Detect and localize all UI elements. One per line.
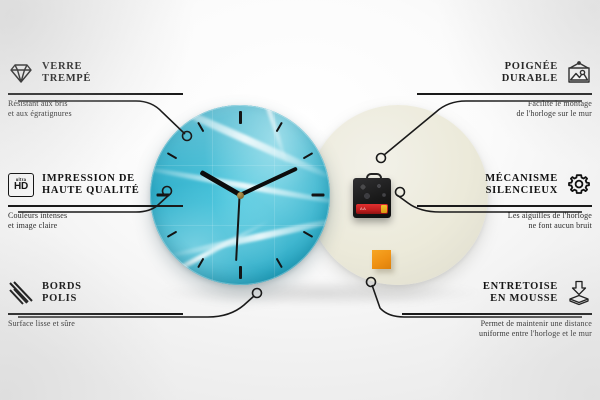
callout-header: POIGNÉEDURABLE xyxy=(417,56,592,90)
foam-spacer-icon xyxy=(566,280,592,306)
callout-rule xyxy=(417,205,592,207)
callout-title: ENTRETOISEEN MOUSSE xyxy=(402,281,558,306)
callout-description: Facilite le montage de l'horloge sur le … xyxy=(417,99,592,119)
hanging-frame-icon xyxy=(566,60,592,86)
connector-ring-entretoise xyxy=(367,278,376,287)
callout-header: ultra HD IMPRESSION DEHAUTE QUALITÉ xyxy=(8,168,183,202)
ultra-hd-icon-main-text: HD xyxy=(14,182,28,192)
connector-ring-bords-polis xyxy=(253,289,262,298)
callout-description: Résistant aux bris et aux égratignures xyxy=(8,99,183,119)
callout-mecanisme-silencieux[interactable]: MÉCANISMESILENCIEUX Les aiguilles de l'h… xyxy=(417,168,592,231)
callout-entretoise-en-mousse[interactable]: ENTRETOISEEN MOUSSE Permet de maintenir … xyxy=(402,276,592,339)
callout-description: Permet de maintenir une distance uniform… xyxy=(402,319,592,339)
callout-header: ENTRETOISEEN MOUSSE xyxy=(402,276,592,310)
callout-title: VERRETREMPÉ xyxy=(42,61,183,86)
callout-description: Couleurs intenses et image claire xyxy=(8,211,183,231)
callout-title: IMPRESSION DEHAUTE QUALITÉ xyxy=(42,173,183,198)
callout-title: POIGNÉEDURABLE xyxy=(417,61,558,86)
callout-rule xyxy=(8,205,183,207)
callout-rule xyxy=(8,313,183,315)
callout-poignee-durable[interactable]: POIGNÉEDURABLE Facilite le montage de l'… xyxy=(417,56,592,119)
callout-description: Surface lisse et sûre xyxy=(8,319,183,329)
callout-rule xyxy=(8,93,183,95)
callout-title: BORDSPOLIS xyxy=(42,281,183,306)
callout-rule xyxy=(417,93,592,95)
polished-edges-icon xyxy=(8,280,34,306)
callout-impression-haute-qualite[interactable]: ultra HD IMPRESSION DEHAUTE QUALITÉ Coul… xyxy=(8,168,183,231)
callout-header: VERRETREMPÉ xyxy=(8,56,183,90)
callout-verre-trempe[interactable]: VERRETREMPÉ Résistant aux bris et aux ég… xyxy=(8,56,183,119)
callout-header: MÉCANISMESILENCIEUX xyxy=(417,168,592,202)
connector-ring-mecanisme xyxy=(396,188,405,197)
connector-ring-verre-trempe xyxy=(183,132,192,141)
callout-bords-polis[interactable]: BORDSPOLIS Surface lisse et sûre xyxy=(8,276,183,329)
callout-header: BORDSPOLIS xyxy=(8,276,183,310)
infographic-canvas: AA xyxy=(0,0,600,400)
ultra-hd-icon: ultra HD xyxy=(8,172,34,198)
diamond-icon xyxy=(8,60,34,86)
callout-description: Les aiguilles de l'horloge ne font aucun… xyxy=(417,211,592,231)
gear-icon xyxy=(566,172,592,198)
callout-rule xyxy=(402,313,592,315)
callout-title: MÉCANISMESILENCIEUX xyxy=(417,173,558,198)
connector-ring-poignee xyxy=(377,154,386,163)
